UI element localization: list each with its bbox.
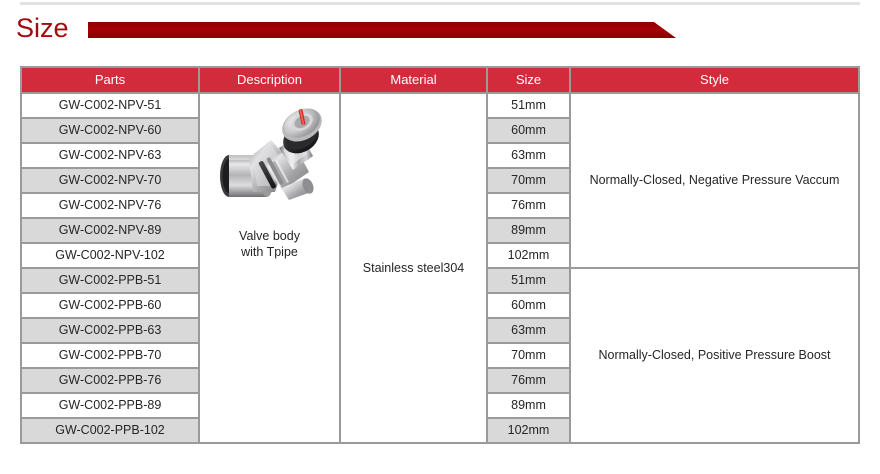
cell-part-number: GW-C002-NPV-51 <box>21 93 199 118</box>
column-header-style: Style <box>570 67 859 93</box>
cell-part-number: GW-C002-NPV-70 <box>21 168 199 193</box>
cell-size: 51mm <box>487 93 570 118</box>
title-banner-shape <box>88 21 676 38</box>
cell-size: 60mm <box>487 118 570 143</box>
section-header: Size <box>0 12 880 46</box>
cell-part-number: GW-C002-PPB-89 <box>21 393 199 418</box>
cell-size: 63mm <box>487 318 570 343</box>
cell-size: 51mm <box>487 268 570 293</box>
page-title: Size <box>16 12 69 44</box>
cell-part-number: GW-C002-NPV-89 <box>21 218 199 243</box>
material-value: Stainless steel304 <box>341 260 486 277</box>
description-cell-content: Valve body with Tpipe <box>200 94 339 442</box>
cell-size: 70mm <box>487 343 570 368</box>
table-row: GW-C002-NPV-51 <box>21 93 859 118</box>
style-value: Normally-Closed, Negative Pressure Vaccu… <box>571 172 858 189</box>
size-specification-table: Parts Description Material Size Style GW… <box>20 66 860 444</box>
cell-part-number: GW-C002-PPB-63 <box>21 318 199 343</box>
cell-size: 89mm <box>487 393 570 418</box>
cell-size: 70mm <box>487 168 570 193</box>
cell-part-number: GW-C002-NPV-76 <box>21 193 199 218</box>
cell-size: 76mm <box>487 193 570 218</box>
column-header-size: Size <box>487 67 570 93</box>
cell-style: Normally-Closed, Positive Pressure Boost <box>570 268 859 443</box>
cell-part-number: GW-C002-NPV-60 <box>21 118 199 143</box>
top-divider <box>20 2 860 5</box>
cell-part-number: GW-C002-NPV-63 <box>21 143 199 168</box>
description-caption-line-2: with Tpipe <box>241 245 298 259</box>
cell-size: 60mm <box>487 293 570 318</box>
cell-size: 102mm <box>487 418 570 443</box>
column-header-material: Material <box>340 67 487 93</box>
table-body: GW-C002-NPV-51 <box>21 93 859 443</box>
cell-part-number: GW-C002-PPB-102 <box>21 418 199 443</box>
cell-size: 102mm <box>487 243 570 268</box>
cell-style: Normally-Closed, Negative Pressure Vaccu… <box>570 93 859 268</box>
cell-material: Stainless steel304 <box>340 93 487 443</box>
cell-part-number: GW-C002-PPB-60 <box>21 293 199 318</box>
cell-part-number: GW-C002-PPB-51 <box>21 268 199 293</box>
cell-size: 89mm <box>487 218 570 243</box>
cell-part-number: GW-C002-PPB-76 <box>21 368 199 393</box>
style-value: Normally-Closed, Positive Pressure Boost <box>571 347 858 364</box>
cell-size: 76mm <box>487 368 570 393</box>
column-header-description: Description <box>199 67 340 93</box>
cell-part-number: GW-C002-NPV-102 <box>21 243 199 268</box>
column-header-parts: Parts <box>21 67 199 93</box>
cell-part-number: GW-C002-PPB-70 <box>21 343 199 368</box>
stainless-steel-valve-with-tpipe-photo <box>209 100 331 218</box>
cell-size: 63mm <box>487 143 570 168</box>
description-caption: Valve body with Tpipe <box>239 228 300 260</box>
description-caption-line-1: Valve body <box>239 229 300 243</box>
cell-description: Valve body with Tpipe <box>199 93 340 443</box>
table-header-row: Parts Description Material Size Style <box>21 67 859 93</box>
